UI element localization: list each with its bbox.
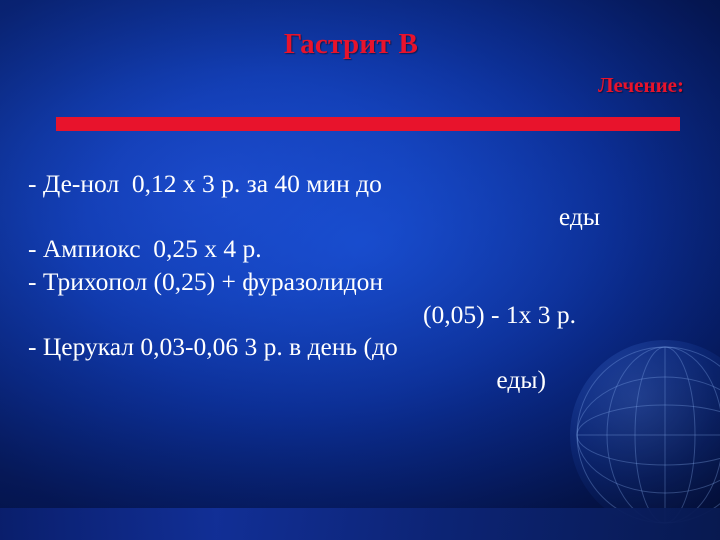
- page-subtitle: Лечение:: [598, 73, 684, 98]
- page-title: Гастрит В: [0, 28, 702, 61]
- accent-rule: [56, 117, 680, 131]
- body-line: - Ампиокс 0,25 х 4 р.: [28, 233, 696, 266]
- body-line: (0,05) - 1х 3 р.: [28, 299, 696, 332]
- body-line: - Трихопол (0,25) + фуразолидон: [28, 266, 696, 299]
- body-line: - Де-нол 0,12 х 3 р. за 40 мин до: [28, 168, 696, 201]
- body-text: - Де-нол 0,12 х 3 р. за 40 мин до еды - …: [28, 168, 696, 396]
- body-line: - Церукал 0,03-0,06 3 р. в день (до: [28, 331, 696, 364]
- body-line: еды: [28, 201, 696, 234]
- body-line: еды): [28, 364, 696, 397]
- slide: Гастрит В Лечение: - Де-нол 0,12 х 3 р. …: [0, 0, 720, 540]
- bottom-band: [0, 508, 720, 540]
